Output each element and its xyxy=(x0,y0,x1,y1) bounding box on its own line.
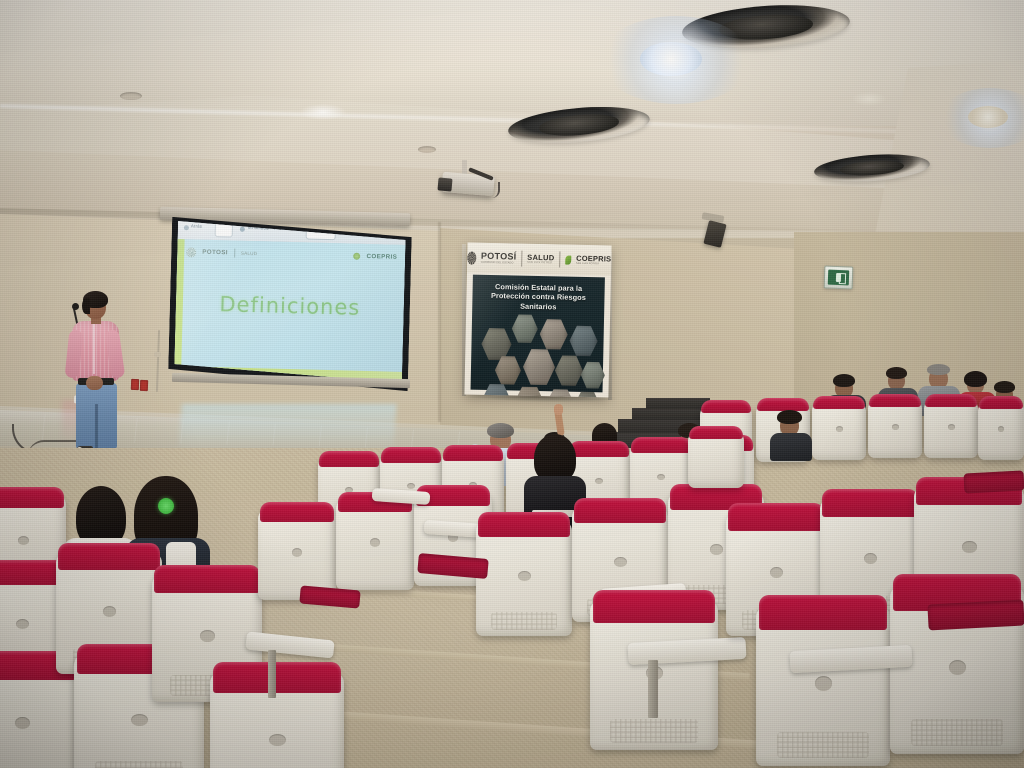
collage-tile xyxy=(569,325,598,358)
auditorium-seat[interactable] xyxy=(924,398,978,458)
banner-photo-collage xyxy=(475,311,601,389)
auditorium-seat[interactable] xyxy=(978,400,1024,460)
divider xyxy=(521,251,522,267)
armrest-post xyxy=(648,660,658,718)
potosi-seal-icon xyxy=(186,247,196,257)
collage-tile xyxy=(581,361,606,389)
downlight-icon xyxy=(968,106,1008,128)
raised-hand-icon xyxy=(554,404,563,415)
collage-tile xyxy=(546,388,575,397)
downlight-icon xyxy=(852,92,886,106)
auditorium-seat[interactable] xyxy=(688,430,744,488)
slide-logo-potosi: POTOSI xyxy=(202,249,228,257)
slide-title: Definiciones xyxy=(176,291,405,321)
projection-screen: Atrás Mi unidad > Presentaciones Present… xyxy=(174,217,406,385)
downlight-icon xyxy=(300,104,346,120)
auditorium-seat[interactable] xyxy=(868,398,922,458)
wall-corner xyxy=(438,222,441,422)
banner-logo-salud-sub: SAN LUIS POTOSÍ xyxy=(527,262,554,265)
wall-outlet-icon xyxy=(131,379,139,390)
divider xyxy=(234,249,235,258)
seat-cushion[interactable] xyxy=(964,470,1024,493)
collage-tile xyxy=(574,391,601,398)
presenter-hands xyxy=(86,376,103,390)
presenter-shirt-placket xyxy=(93,324,95,374)
collage-tile xyxy=(481,327,512,362)
seat-cushion[interactable] xyxy=(927,600,1024,631)
collage-tile xyxy=(523,348,556,387)
auditorium-photo: Atrás Mi unidad > Presentaciones Present… xyxy=(0,0,1024,768)
banner-logo-salud: SALUD SAN LUIS POTOSÍ xyxy=(527,253,555,264)
coepris-banner: POTOSÍ GOBIERNO DEL ESTADO SALUD SAN LUI… xyxy=(464,243,611,398)
auditorium-seat[interactable] xyxy=(476,520,572,636)
auditorium-seat[interactable] xyxy=(210,672,344,768)
cable-clip xyxy=(154,352,161,357)
smoke-detector-icon xyxy=(418,146,436,153)
auditorium-seat[interactable] xyxy=(756,606,890,766)
browser-back-label[interactable]: Atrás xyxy=(191,223,202,228)
projector-lens-icon xyxy=(437,177,452,191)
exit-sign xyxy=(824,266,854,290)
banner-headline: Comisión Estatal para la Protección cont… xyxy=(476,282,601,313)
divider xyxy=(559,251,560,267)
auditorium-seat[interactable] xyxy=(812,400,866,460)
banner-logo-potosi-sub: GOBIERNO DEL ESTADO xyxy=(481,261,517,264)
slide-logo-salud: SALUD xyxy=(241,251,257,256)
collage-tile xyxy=(539,318,568,351)
slide-logo-strip: POTOSI SALUD COEPRIS xyxy=(186,245,397,264)
exit-sign-face xyxy=(828,270,850,286)
collage-tile xyxy=(555,354,584,387)
collage-tile xyxy=(512,313,539,344)
banner-logo-coepris-sub: SAN LUIS POTOSÍ xyxy=(576,263,611,266)
slide-canvas: POTOSI SALUD COEPRIS Definiciones xyxy=(174,239,406,385)
banner-logo-header: POTOSÍ GOBIERNO DEL ESTADO SALUD SAN LUI… xyxy=(467,243,612,276)
auditorium-seat[interactable] xyxy=(336,498,414,590)
banner-logo-coepris: COEPRIS SAN LUIS POTOSÍ xyxy=(576,254,611,266)
potosi-seal-icon xyxy=(467,251,476,264)
presenter-hair-side xyxy=(82,298,90,314)
coepris-leaf-icon xyxy=(353,253,360,260)
coepris-leaf-icon xyxy=(565,255,571,264)
screen-reflection xyxy=(178,404,396,452)
auditorium-seat[interactable] xyxy=(258,508,336,600)
exit-door-icon xyxy=(839,273,846,284)
green-hair-clip-icon xyxy=(158,498,174,514)
auditorium-seat[interactable] xyxy=(0,660,78,768)
wall-outlet-icon xyxy=(140,380,148,391)
presenter-leg-split xyxy=(95,404,98,450)
banner-logo-potosi: POTOSÍ GOBIERNO DEL ESTADO xyxy=(481,251,517,264)
smoke-detector-icon xyxy=(120,92,142,100)
armrest-post xyxy=(268,650,276,698)
slide-logo-coepris: COEPRIS xyxy=(366,253,397,261)
audience-person xyxy=(770,412,812,460)
downlight-icon xyxy=(640,42,702,76)
banner-body: Comisión Estatal para la Protección cont… xyxy=(471,275,605,393)
presenter xyxy=(62,294,126,472)
